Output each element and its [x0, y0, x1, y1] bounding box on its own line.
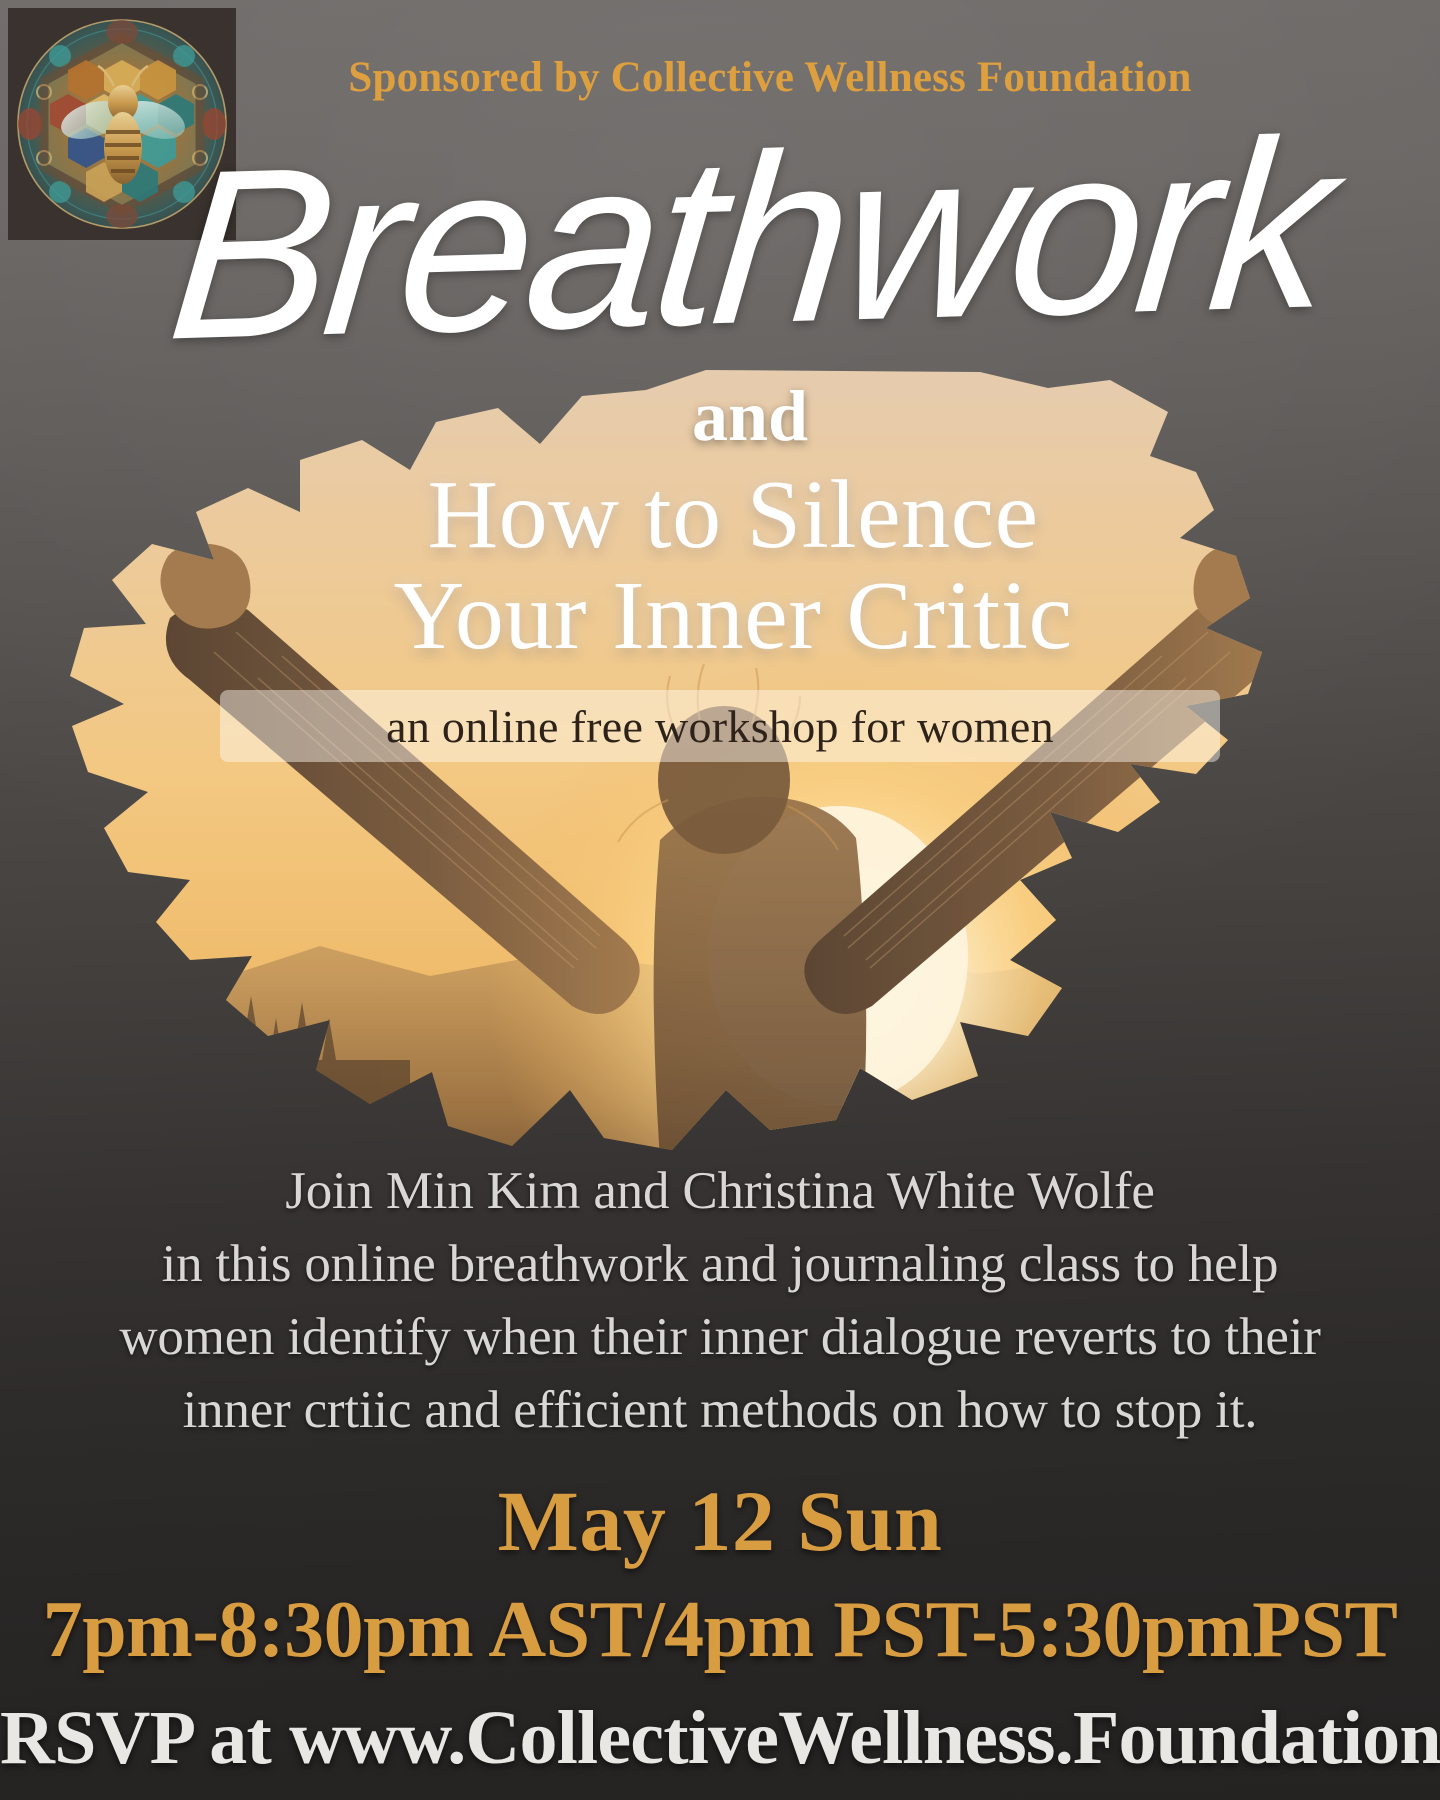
subtitle-band: an online free workshop for women: [220, 690, 1220, 762]
headline-line-2: Your Inner Critic: [26, 566, 1440, 667]
subtitle-text: an online free workshop for women: [386, 700, 1054, 753]
body-line-1: Join Min Kim and Christina White Wolfe: [70, 1155, 1370, 1228]
title-connector-and: and: [0, 380, 1440, 452]
body-line-2: in this online breathwork and journaling…: [70, 1228, 1370, 1301]
event-time: 7pm-8:30pm AST/4pm PST-5:30pmPST: [0, 1590, 1440, 1670]
headline-line-1: How to Silence: [26, 465, 1440, 566]
body-description: Join Min Kim and Christina White Wolfe i…: [70, 1155, 1370, 1448]
body-line-3: women identify when their inner dialogue…: [70, 1301, 1370, 1374]
event-poster: Sponsored by Collective Wellness Foundat…: [0, 0, 1440, 1800]
event-date: May 12 Sun: [0, 1478, 1440, 1564]
rsvp-link[interactable]: RSVP at www.CollectiveWellness.Foundatio…: [0, 1700, 1440, 1776]
body-line-4: inner crtiic and efficient methods on ho…: [70, 1374, 1370, 1447]
script-title-breathwork: Breathwork: [0, 100, 1440, 381]
page-title: How to Silence Your Inner Critic: [0, 465, 1440, 667]
